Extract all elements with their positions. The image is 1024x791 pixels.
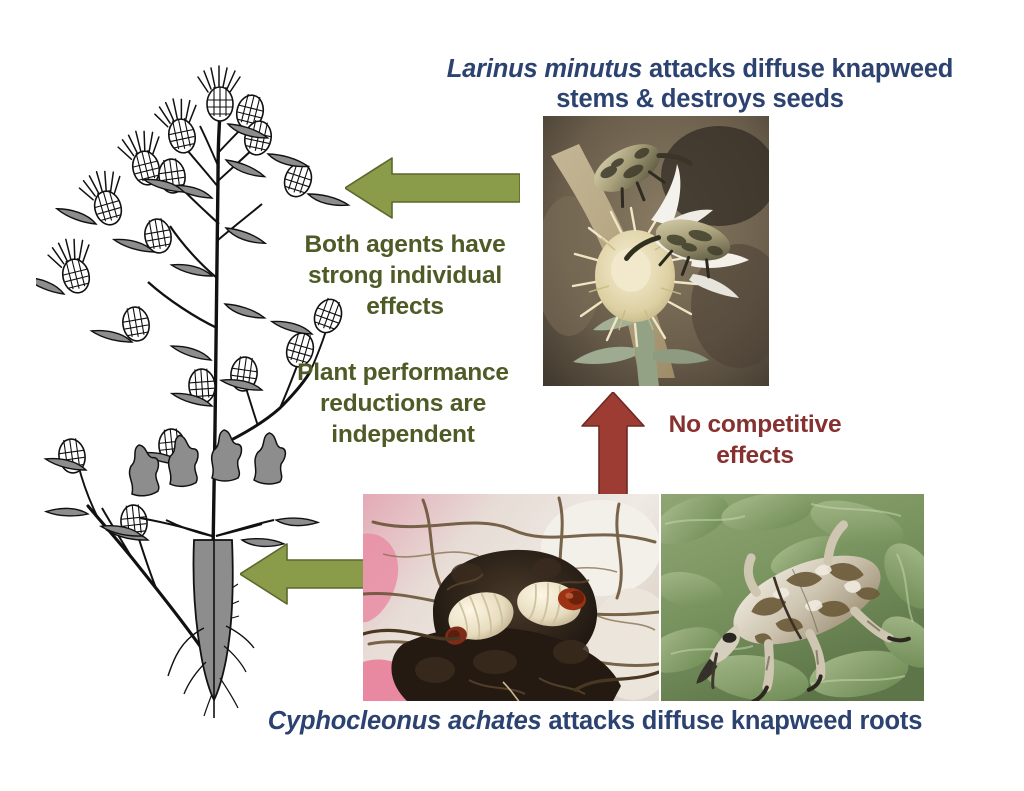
photo-cyphocleonus-adult (661, 494, 924, 701)
figure-canvas: Larinus minutus attacks diffuse knapweed… (0, 0, 1024, 791)
arrow-to-seeds (345, 156, 520, 220)
arrow-no-competitive-effects (580, 392, 646, 497)
label-no-competitive-effects: No competitive effects (650, 410, 860, 472)
species-name-larinus: Larinus minutus (447, 55, 642, 83)
label-plant-performance-independent: Plant performance reductions are indepen… (272, 358, 534, 451)
photo-cyphocleonus-larvae (363, 494, 659, 701)
caption-larinus-minutus: Larinus minutus attacks diffuse knapweed… (440, 54, 960, 114)
species-name-cyphocleonus: Cyphocleonus achates (268, 707, 542, 735)
label-both-agents-strong-effects: Both agents have strong individual effec… (276, 230, 534, 323)
caption-cyphocleonus-achates: Cyphocleonus achates attacks diffuse kna… (200, 706, 990, 736)
caption-cyphocleonus-rest: attacks diffuse knapweed roots (542, 707, 923, 735)
photo-larinus-minutus (543, 116, 769, 386)
